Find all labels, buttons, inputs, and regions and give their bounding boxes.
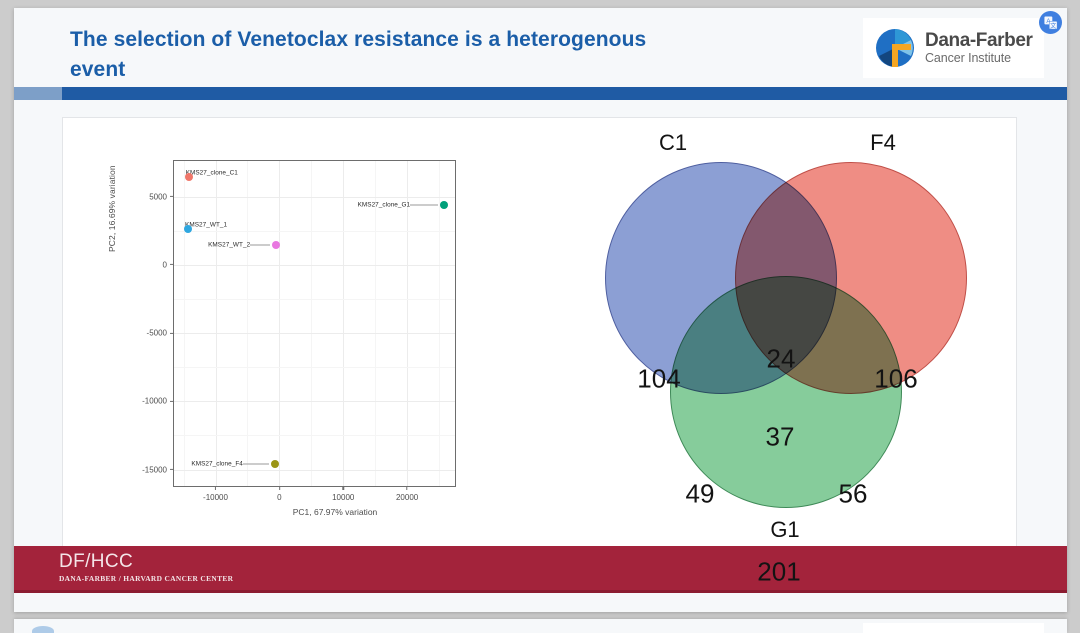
pca-point-label: KMS27_clone_G1: [358, 202, 411, 209]
translate-icon[interactable]: A 文: [1039, 11, 1062, 34]
pca-data-point: [271, 460, 279, 468]
pca-scatter-plot: PC2, 16.69% variation PC1, 67.97% variat…: [111, 156, 531, 531]
venn-count-c1-only: 104: [637, 364, 680, 395]
svg-text:文: 文: [1050, 21, 1056, 29]
pca-y-tick-label: 5000: [149, 192, 174, 201]
pca-gridline-horizontal-minor: [174, 435, 455, 436]
footer-title: DF/HCC: [59, 551, 233, 573]
slide-header: The selection of Venetoclax resistance i…: [14, 8, 1067, 87]
dana-farber-logo-icon: [875, 28, 915, 68]
page-title: The selection of Venetoclax resistance i…: [70, 25, 690, 85]
dana-farber-logo-text: Dana-Farber Cancer Institute: [925, 31, 1033, 66]
pca-point-label: KMS27_clone_F4: [191, 461, 243, 468]
pca-y-tick-label: -15000: [142, 465, 174, 474]
pca-label-leader-line: [410, 205, 438, 206]
venn-diagram: C1 F4 G1 104 106 201 24 49 56 37: [583, 124, 993, 549]
pca-x-tick-label: -10000: [203, 486, 228, 502]
venn-set-label-c1: C1: [659, 130, 687, 156]
footer-subtitle: DANA-FARBER / HARVARD CANCER CENTER: [59, 574, 233, 583]
pca-gridline-vertical: [407, 161, 408, 486]
venn-set-label-g1: G1: [770, 517, 799, 543]
footer-brand: DF/HCC DANA-FARBER / HARVARD CANCER CENT…: [59, 551, 233, 583]
pca-x-tick-label: 0: [277, 486, 281, 502]
venn-circle-g1: [670, 276, 902, 508]
pca-plot-panel: -100000100002000050000-5000-10000-15000K…: [173, 160, 456, 487]
pca-gridline-vertical: [343, 161, 344, 486]
venn-count-f4-g1: 56: [839, 479, 868, 510]
pca-gridline-horizontal: [174, 333, 455, 334]
pca-x-tick-label: 10000: [332, 486, 354, 502]
pca-gridline-vertical-minor: [311, 161, 312, 486]
logo-name: Dana-Farber: [925, 30, 1033, 51]
next-slide-graphic: [32, 626, 54, 633]
pca-gridline-horizontal-minor: [174, 367, 455, 368]
pca-gridline-vertical-minor: [375, 161, 376, 486]
pca-label-leader-line: [250, 245, 270, 246]
pca-gridline-horizontal: [174, 265, 455, 266]
venn-count-c1-f4: 24: [767, 344, 796, 375]
venn-count-g1-only: 201: [757, 557, 800, 588]
logo-subtitle: Cancer Institute: [925, 51, 1011, 65]
pca-point-label: KMS27_WT_2: [208, 242, 250, 249]
venn-set-label-f4: F4: [870, 130, 896, 156]
pca-y-tick-label: 0: [163, 260, 174, 269]
accent-bar-left: [14, 87, 62, 100]
pca-gridline-vertical: [279, 161, 280, 486]
pca-label-leader-line: [243, 464, 269, 465]
pca-y-tick-label: -10000: [142, 397, 174, 406]
pca-x-axis-label: PC1, 67.97% variation: [195, 507, 475, 517]
accent-bar-right: [62, 87, 1067, 100]
pca-data-point: [440, 201, 448, 209]
slide-footer: DF/HCC DANA-FARBER / HARVARD CANCER CENT…: [14, 546, 1067, 590]
pca-gridline-vertical: [216, 161, 217, 486]
pca-data-point: [272, 241, 280, 249]
pca-gridline-vertical-minor: [439, 161, 440, 486]
pca-gridline-horizontal-minor: [174, 231, 455, 232]
next-slide-preview[interactable]: [14, 619, 1067, 633]
presentation-viewport: The selection of Venetoclax resistance i…: [0, 0, 1080, 633]
pca-x-tick-label: 20000: [396, 486, 418, 502]
slide-content-card: PC2, 16.69% variation PC1, 67.97% variat…: [62, 117, 1017, 557]
pca-gridline-horizontal: [174, 401, 455, 402]
header-accent-bar: [14, 87, 1067, 100]
pca-y-axis-label: PC2, 16.69% variation: [107, 165, 117, 252]
pca-gridline-horizontal: [174, 197, 455, 198]
pca-gridline-horizontal-minor: [174, 299, 455, 300]
venn-count-c1-g1: 49: [686, 479, 715, 510]
venn-count-c1-f4-g1: 37: [766, 422, 795, 453]
pca-data-point: [185, 173, 193, 181]
slide: The selection of Venetoclax resistance i…: [14, 8, 1067, 612]
next-slide-logo-card: [863, 623, 1044, 633]
pca-gridline-horizontal: [174, 470, 455, 471]
dana-farber-logo: Dana-Farber Cancer Institute: [863, 18, 1044, 78]
venn-count-f4-only: 106: [874, 364, 917, 395]
pca-point-label: KMS27_clone_C1: [186, 169, 238, 176]
pca-data-point: [184, 225, 192, 233]
pca-gridline-vertical-minor: [184, 161, 185, 486]
pca-gridline-vertical-minor: [247, 161, 248, 486]
pca-y-tick-label: -5000: [147, 329, 174, 338]
footer-shadow: [14, 590, 1067, 593]
